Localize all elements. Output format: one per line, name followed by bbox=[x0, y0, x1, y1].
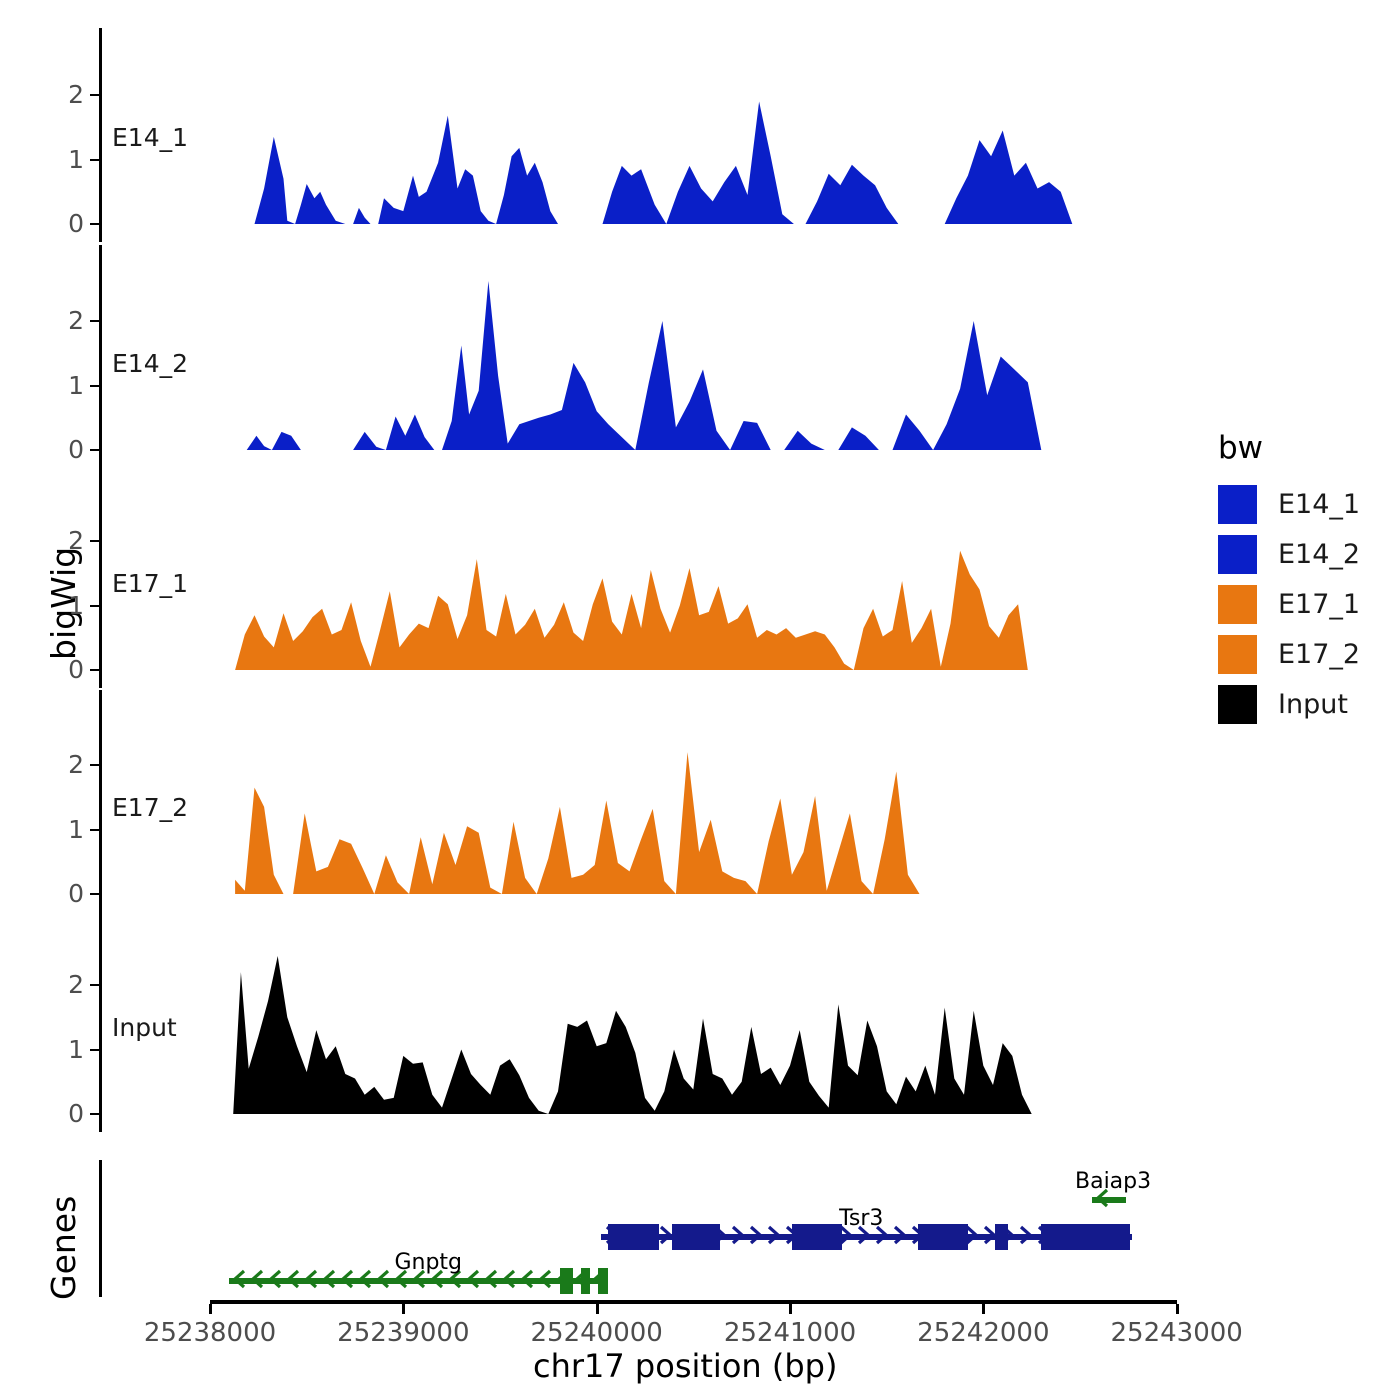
gene-label-tsr3: Tsr3 bbox=[839, 1206, 883, 1231]
gene-exon bbox=[918, 1224, 968, 1250]
x-tick-label: 25243000 bbox=[1097, 1318, 1257, 1348]
track-area-E17_2 bbox=[0, 690, 1400, 914]
gene-exon bbox=[560, 1268, 574, 1294]
track-area-Input bbox=[0, 912, 1400, 1134]
track-area-E17_1 bbox=[0, 468, 1400, 690]
legend-swatch bbox=[1218, 635, 1257, 674]
x-tick bbox=[982, 1304, 985, 1314]
legend-label: E17_1 bbox=[1278, 589, 1360, 620]
gene-exon bbox=[608, 1224, 658, 1250]
legend-label: Input bbox=[1278, 689, 1348, 720]
legend-swatch bbox=[1218, 685, 1257, 724]
x-tick bbox=[209, 1304, 212, 1314]
x-axis-line bbox=[210, 1300, 1177, 1304]
legend-item-e14_1[interactable]: E14_1 bbox=[1218, 485, 1360, 524]
genome-browser-figure: bigWig Genes 012E14_1012E14_2012E17_1012… bbox=[0, 0, 1400, 1400]
gene-exon bbox=[1041, 1224, 1130, 1250]
x-tick bbox=[596, 1304, 599, 1314]
genes-axis-title: Genes bbox=[44, 1196, 83, 1300]
genes-axis-spine bbox=[99, 1160, 102, 1297]
legend-swatch bbox=[1218, 585, 1257, 624]
x-axis-title: chr17 position (bp) bbox=[533, 1347, 837, 1385]
track-area-E14_2 bbox=[0, 245, 1400, 470]
legend-item-e17_1[interactable]: E17_1 bbox=[1218, 585, 1360, 624]
x-tick-label: 25242000 bbox=[903, 1318, 1063, 1348]
gene-exon bbox=[581, 1268, 590, 1294]
legend-swatch bbox=[1218, 535, 1257, 574]
x-tick-label: 25241000 bbox=[710, 1318, 870, 1348]
gene-exon bbox=[598, 1268, 609, 1294]
gene-exon bbox=[672, 1224, 720, 1250]
legend-label: E17_2 bbox=[1278, 639, 1360, 670]
gene-label-baiap3: Baiap3 bbox=[1075, 1169, 1151, 1194]
gene-exon bbox=[792, 1224, 842, 1250]
legend-item-e14_2[interactable]: E14_2 bbox=[1218, 535, 1360, 574]
x-tick-label: 25239000 bbox=[323, 1318, 483, 1348]
legend-label: E14_2 bbox=[1278, 539, 1360, 570]
legend-item-input[interactable]: Input bbox=[1218, 685, 1348, 724]
x-tick bbox=[789, 1304, 792, 1314]
gene-label-gnptg: Gnptg bbox=[394, 1250, 462, 1275]
track-area-E14_1 bbox=[0, 28, 1400, 244]
legend-swatch bbox=[1218, 485, 1257, 524]
x-tick bbox=[1176, 1304, 1179, 1314]
x-tick bbox=[402, 1304, 405, 1314]
x-tick-label: 25240000 bbox=[517, 1318, 677, 1348]
legend-label: E14_1 bbox=[1278, 489, 1360, 520]
legend-item-e17_2[interactable]: E17_2 bbox=[1218, 635, 1360, 674]
gene-exon bbox=[995, 1224, 1009, 1250]
legend-title: bw bbox=[1218, 430, 1263, 466]
x-tick-label: 25238000 bbox=[130, 1318, 290, 1348]
